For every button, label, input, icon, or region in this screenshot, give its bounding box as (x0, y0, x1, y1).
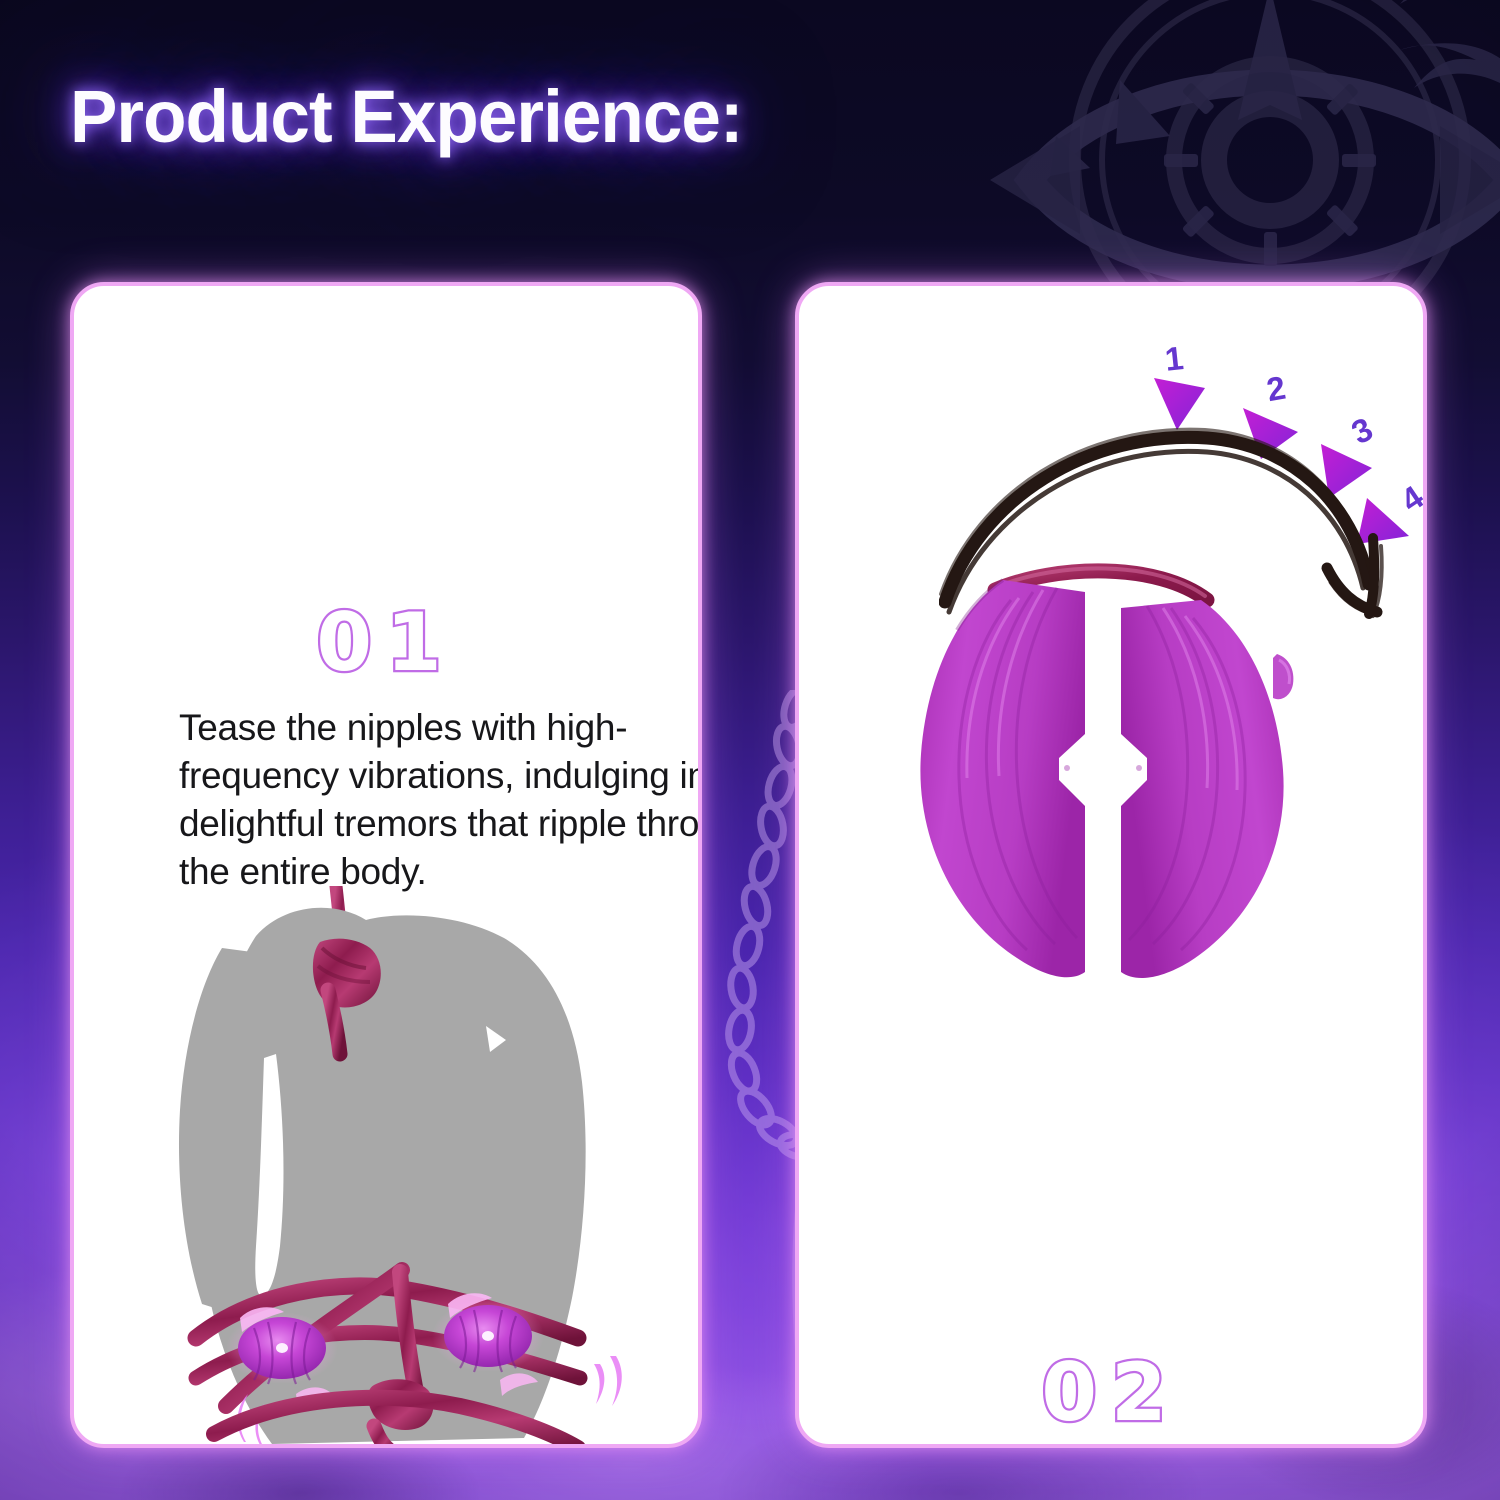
card-number-02: 02 (799, 1346, 1423, 1439)
feature-card-02[interactable]: 1 2 3 4 (795, 282, 1427, 1448)
marker-label-1: 1 (1163, 339, 1185, 379)
clamp-device-illustration (907, 558, 1327, 988)
card-number-01: 01 (74, 596, 698, 689)
feature-card-01[interactable]: 01 Tease the nipples with high-frequency… (70, 282, 702, 1448)
poster-canvas: Product Experience: 01 Tease the nipples… (0, 0, 1500, 1500)
card-description-01: Tease the nipples with high-frequency vi… (179, 704, 702, 896)
page-title: Product Experience: (70, 74, 743, 159)
bound-figure-illustration (104, 886, 676, 1448)
